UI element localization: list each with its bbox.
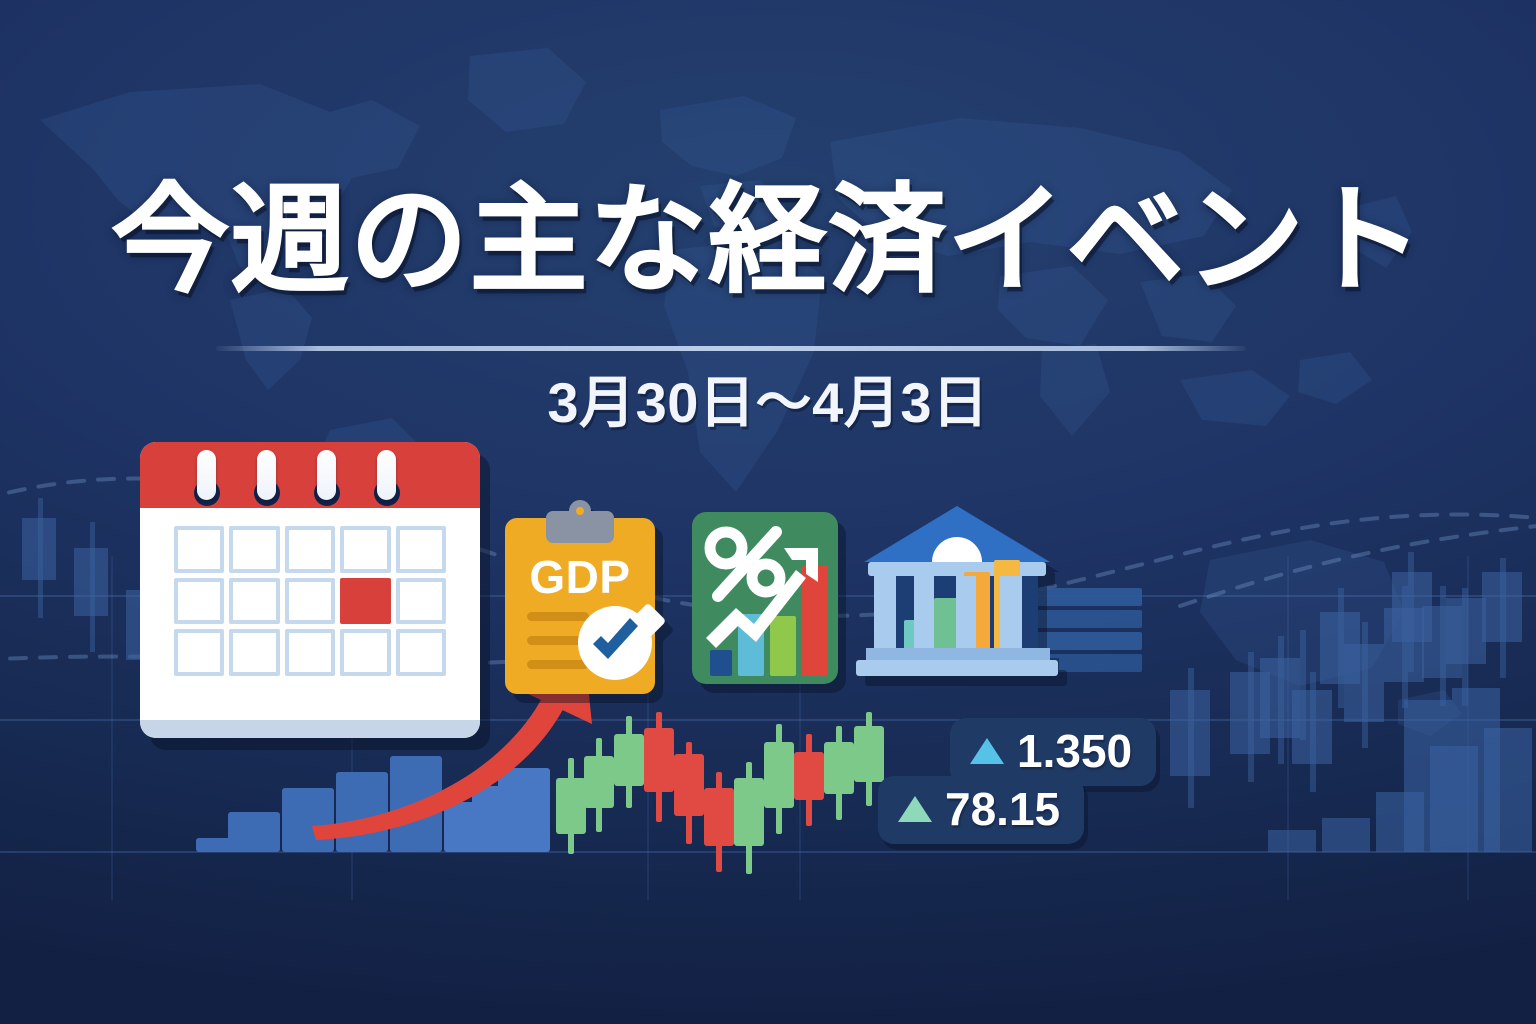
background-candles-right [1170,552,1522,808]
calendar-cell [229,629,279,676]
calendar-cell [396,578,446,625]
calendar-ring-pin [377,450,396,500]
calendar-cell [174,629,224,676]
percent-bar-3 [770,616,796,676]
candle-5 [674,742,704,844]
central-bank-icon [852,498,1062,688]
calendar-cell [340,629,390,676]
page-subtitle: 3月30日〜4月3日 [547,358,988,439]
price-badge-value: 1.350 [1017,728,1132,774]
title-divider [216,346,1246,351]
candle-8 [764,724,794,834]
calendar-cell [396,629,446,676]
bank-step-upper [866,648,1050,660]
percent-bar-4 [802,566,828,676]
gdp-label: GDP [505,550,655,604]
foreground-growth-bars [196,756,550,852]
calendar-ring-pin [317,450,336,500]
gdp-clip-ring [569,500,591,522]
up-triangle-icon [970,738,1004,764]
page-title: 今週の主な経済イベント [111,178,1425,305]
calendar-cell [229,526,279,573]
calendar-cell [285,629,335,676]
candle-4 [644,712,674,822]
gdp-check-mark-icon [578,606,652,680]
calendar-cell [174,526,224,573]
calendar-header-band [140,442,480,508]
candle-3 [614,716,644,808]
bank-column [874,576,896,650]
candle-6 [704,772,734,872]
percent-card-contents [692,512,838,684]
calendar-cell [285,526,335,573]
calendar-body [140,442,480,738]
calendar-icon [140,442,480,738]
bank-bar-2 [934,598,958,650]
banner-canvas: 今週の主な経済イベント 3月30日〜4月3日 [0,0,1536,1024]
calendar-grid [174,526,446,676]
bank-step-lower [856,660,1058,676]
candle-7 [734,762,764,874]
candle-10 [824,726,854,820]
calendar-cell [174,578,224,625]
calendar-cell [340,526,390,573]
percent-symbol [710,532,780,596]
page-subtitle-wrap: 3月30日〜4月3日 [0,358,1536,439]
candle-9 [794,734,824,826]
calendar-ring-pin [197,450,216,500]
bank-column [1000,576,1022,650]
price-badge-value: 78.15 [945,786,1060,832]
percent-growth-chart-icon [692,512,838,684]
bank-column [956,576,976,650]
page-title-wrap: 今週の主な経済イベント [0,178,1536,305]
calendar-cell [285,578,335,625]
bank-column [914,576,934,650]
background-bars-right [1268,688,1532,852]
calendar-cell [396,526,446,573]
bank-illustration [852,498,1062,688]
gdp-clipboard-icon: GDP [505,508,655,694]
up-triangle-icon [898,796,932,822]
candle-2 [584,738,614,832]
price-badge-7815[interactable]: 78.15 [878,776,1084,844]
candle-1 [556,758,586,854]
calendar-cell [229,578,279,625]
calendar-cell-highlighted [340,578,390,625]
calendar-ring-pin [257,450,276,500]
calendar-footer-band [140,720,480,738]
percent-bar-1 [710,650,732,676]
